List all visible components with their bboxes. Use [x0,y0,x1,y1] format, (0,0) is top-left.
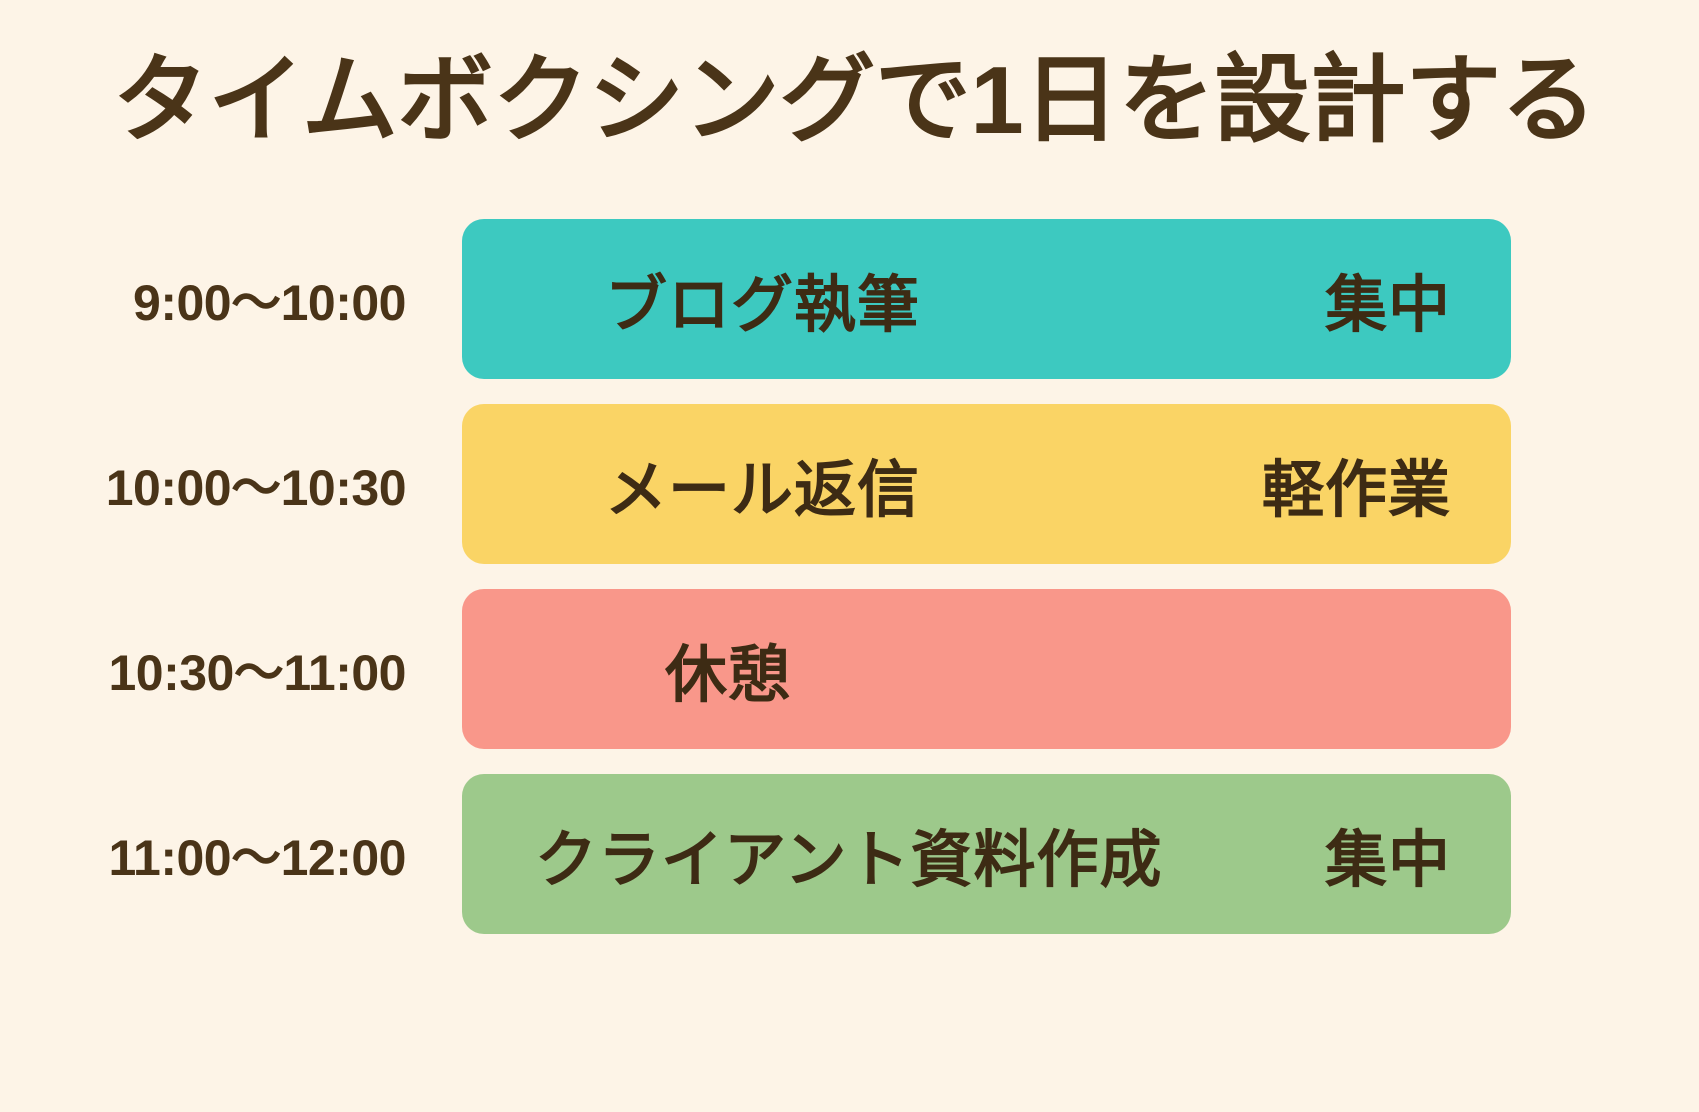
time-label: 10:30〜11:00 [0,633,462,705]
title-container: タイムボクシングで1日を設計する [0,44,1699,157]
category-tag: 集中 [1325,254,1451,344]
schedule-row: 11:00〜12:00 クライアント資料作成 集中 [0,774,1699,934]
category-tag: 集中 [1325,809,1451,899]
time-label: 10:00〜10:30 [0,448,462,520]
category-tag: 軽作業 [1262,439,1451,529]
schedule-list: 9:00〜10:00 ブログ執筆 集中 10:00〜10:30 メール返信 軽作… [0,219,1699,934]
schedule-row: 10:30〜11:00 休憩 [0,589,1699,749]
time-label: 9:00〜10:00 [0,263,462,335]
time-label: 11:00〜12:00 [0,818,462,890]
task-label: 休憩 [665,624,791,714]
timebox-bar[interactable]: メール返信 軽作業 [462,404,1511,564]
timebox-bar[interactable]: ブログ執筆 集中 [462,219,1511,379]
task-label: メール返信 [605,439,920,529]
schedule-row: 10:00〜10:30 メール返信 軽作業 [0,404,1699,564]
task-label: クライアント資料作成 [535,809,1163,899]
timebox-bar[interactable]: 休憩 [462,589,1511,749]
schedule-row: 9:00〜10:00 ブログ執筆 集中 [0,219,1699,379]
timebox-bar[interactable]: クライアント資料作成 集中 [462,774,1511,934]
page-title: タイムボクシングで1日を設計する [113,44,1596,157]
task-label: ブログ執筆 [605,254,920,344]
timeboxing-slide: タイムボクシングで1日を設計する 9:00〜10:00 ブログ執筆 集中 10:… [0,0,1699,1112]
